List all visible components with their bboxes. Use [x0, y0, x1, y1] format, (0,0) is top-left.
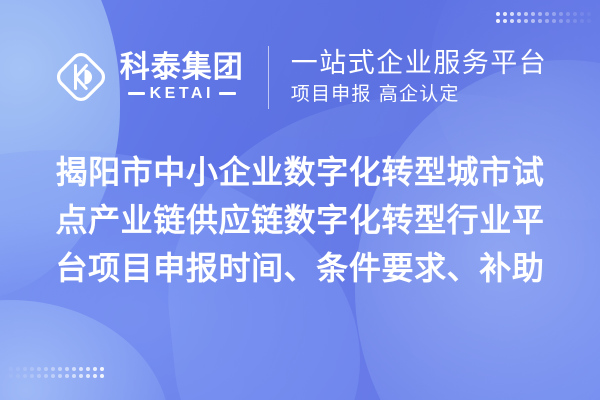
dot: [538, 12, 542, 16]
dot: [86, 374, 90, 378]
dot: [72, 374, 76, 378]
dot: [524, 12, 528, 16]
dot: [51, 374, 55, 378]
dot: [100, 367, 104, 371]
dot: [9, 374, 13, 378]
tagline-block: 一站式企业服务平台 项目申报 高企认定: [291, 48, 548, 106]
dot-grid-row: [496, 12, 591, 16]
page-title-line-2: 点产业链供应链数字化转型行业平: [55, 196, 544, 244]
dot: [79, 367, 83, 371]
dot: [545, 19, 549, 23]
brand-rule-left: [128, 92, 145, 95]
dot: [9, 367, 13, 371]
dot: [524, 19, 528, 23]
dot: [587, 12, 591, 16]
background-blob-left-bottom-small: [0, 300, 170, 400]
dot: [65, 374, 69, 378]
dot: [86, 367, 90, 371]
dot: [517, 19, 521, 23]
dot: [30, 367, 34, 371]
dot: [37, 367, 41, 371]
dot: [573, 12, 577, 16]
dot: [545, 12, 549, 16]
dot: [531, 12, 535, 16]
brand-name-en: KETAI: [150, 85, 214, 102]
dot: [552, 12, 556, 16]
dot: [93, 374, 97, 378]
dot: [79, 374, 83, 378]
brand-text: 科泰集团 KETAI: [120, 52, 244, 102]
dot: [496, 19, 500, 23]
page-title-line-1: 揭阳市中小企业数字化转型城市试: [55, 148, 544, 196]
dot: [552, 19, 556, 23]
dot: [30, 374, 34, 378]
dot: [44, 374, 48, 378]
dot: [100, 374, 104, 378]
dot: [65, 367, 69, 371]
dot: [510, 19, 514, 23]
dot: [517, 12, 521, 16]
dot: [503, 12, 507, 16]
dot: [51, 367, 55, 371]
dot: [16, 367, 20, 371]
ketai-logo-icon: [53, 49, 109, 105]
banner-header: 科泰集团 KETAI 一站式企业服务平台 项目申报 高企认定: [0, 44, 600, 110]
dot: [531, 19, 535, 23]
dot: [587, 19, 591, 23]
page-title-line-3: 台项目申报时间、条件要求、补助: [55, 244, 544, 292]
dot: [580, 19, 584, 23]
dot: [93, 367, 97, 371]
brand-name-en-row: KETAI: [120, 85, 244, 102]
tagline-primary: 一站式企业服务平台: [291, 48, 548, 80]
dot-grid-bottom-left: [9, 367, 104, 378]
dot-grid-row: [496, 19, 591, 23]
dot: [566, 12, 570, 16]
dot: [559, 12, 563, 16]
dot: [23, 367, 27, 371]
brand-lockup: 科泰集团 KETAI: [53, 49, 244, 105]
dot: [566, 19, 570, 23]
dot-grid-row: [9, 367, 104, 371]
dot: [58, 367, 62, 371]
brand-name-cn: 科泰集团: [120, 52, 244, 84]
dot-grid-row: [9, 374, 104, 378]
dot: [44, 367, 48, 371]
dot: [16, 374, 20, 378]
dot: [37, 374, 41, 378]
dot: [72, 367, 76, 371]
page-title: 揭阳市中小企业数字化转型城市试 点产业链供应链数字化转型行业平 台项目申报时间、…: [0, 148, 600, 292]
dot: [573, 19, 577, 23]
dot: [496, 12, 500, 16]
header-divider: [268, 46, 269, 109]
tagline-secondary: 项目申报 高企认定: [291, 82, 548, 106]
promo-banner: 科泰集团 KETAI 一站式企业服务平台 项目申报 高企认定 揭阳市中小企业数字…: [0, 0, 600, 400]
dot: [559, 19, 563, 23]
dot: [538, 19, 542, 23]
brand-rule-right: [219, 92, 236, 95]
dot: [58, 374, 62, 378]
dot: [23, 374, 27, 378]
dot: [580, 12, 584, 16]
dot: [510, 12, 514, 16]
dot-grid-top-right: [496, 12, 591, 23]
dot: [503, 19, 507, 23]
